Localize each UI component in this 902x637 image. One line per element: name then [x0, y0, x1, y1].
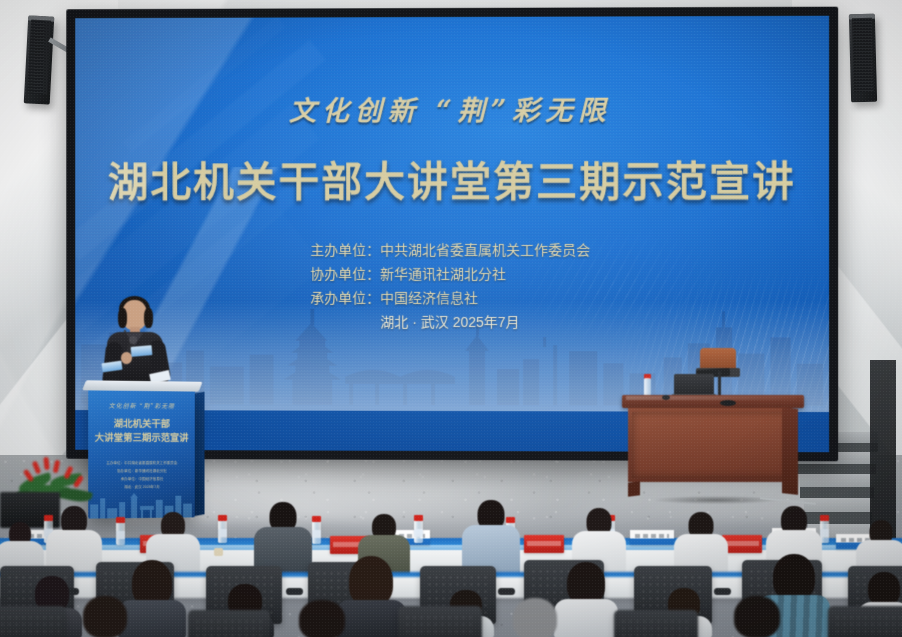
- podium: 文化创新 “荆”彩无限 湖北机关干部 大讲堂第三期示范宣讲 主办单位：中共湖北省…: [88, 387, 195, 518]
- audience-head: [349, 556, 393, 606]
- water-bottle: [414, 520, 423, 543]
- desk-front-inset: [632, 412, 788, 478]
- chair: [0, 606, 66, 637]
- podium-headline-1: 湖北机关干部: [88, 419, 195, 432]
- audience-head: [734, 596, 780, 637]
- chair-armrest: [498, 588, 515, 595]
- red-gift-box: [524, 535, 564, 553]
- name-card: [630, 530, 674, 545]
- podium-headline-2: 大讲堂第三期示范宣讲: [88, 433, 195, 446]
- desk-conference-microphone: [720, 400, 736, 406]
- audience-head: [868, 572, 900, 606]
- audience-head: [299, 600, 345, 637]
- desk-mouse: [662, 395, 670, 400]
- desk-water-bottle: [644, 378, 651, 396]
- presenter-hair-left: [118, 308, 127, 328]
- chair: [614, 610, 698, 637]
- chair: [828, 606, 902, 637]
- desk-front-panel: [628, 408, 792, 482]
- desk-surface-sheen: [626, 396, 796, 400]
- chair: [188, 610, 270, 637]
- podium-kicker: 文化创新 “荆”彩无限: [88, 401, 195, 411]
- presenter-hair-right: [144, 308, 153, 328]
- tea-cup: [214, 548, 223, 556]
- water-bottle: [312, 521, 321, 544]
- podium-front-panel: 文化创新 “荆”彩无限 湖北机关干部 大讲堂第三期示范宣讲 主办单位：中共湖北省…: [88, 387, 195, 518]
- water-bottle: [116, 522, 125, 545]
- laptop-lid: [674, 374, 714, 395]
- wall-speaker-left: [24, 15, 55, 104]
- chair-armrest: [714, 588, 731, 595]
- podium-organizer-2: 协办单位：新华通讯社湖北分社: [88, 468, 195, 474]
- lecture-hall-photo: 文化创新 “荆”彩无限 湖北机关干部大讲堂第三期示范宣讲 主办单位：中共湖北省委…: [0, 0, 902, 637]
- audience-member: [286, 600, 358, 637]
- audience-member: [70, 596, 140, 637]
- audience-head: [773, 554, 815, 600]
- podium-organizer-3: 承办单位：中国经济信息社: [88, 476, 195, 483]
- desk-surface: [622, 395, 804, 408]
- desk-leg-right: [782, 407, 798, 495]
- chair: [398, 606, 482, 637]
- water-bottle: [218, 520, 227, 543]
- desk-monitor-arm: [718, 371, 721, 397]
- audience-member: [720, 596, 794, 637]
- audience-member: [462, 500, 520, 576]
- microphone-head-icon: [129, 336, 137, 344]
- podium-top-surface: [82, 380, 203, 391]
- audience-head: [83, 596, 127, 637]
- chair-armrest: [286, 588, 303, 595]
- audience-member: [500, 598, 570, 637]
- red-gift-box: [722, 535, 762, 553]
- audience-member: [254, 502, 312, 576]
- podium-organizer-1: 主办单位：中共湖北省委直属机关工作委员会: [88, 460, 195, 466]
- desk-chair-back: [700, 348, 736, 370]
- wall-speaker-right: [849, 14, 877, 103]
- audience-head: [513, 598, 557, 637]
- audience-head: [567, 562, 605, 604]
- presenter-badge: [131, 345, 153, 357]
- presider-desk: [622, 395, 804, 507]
